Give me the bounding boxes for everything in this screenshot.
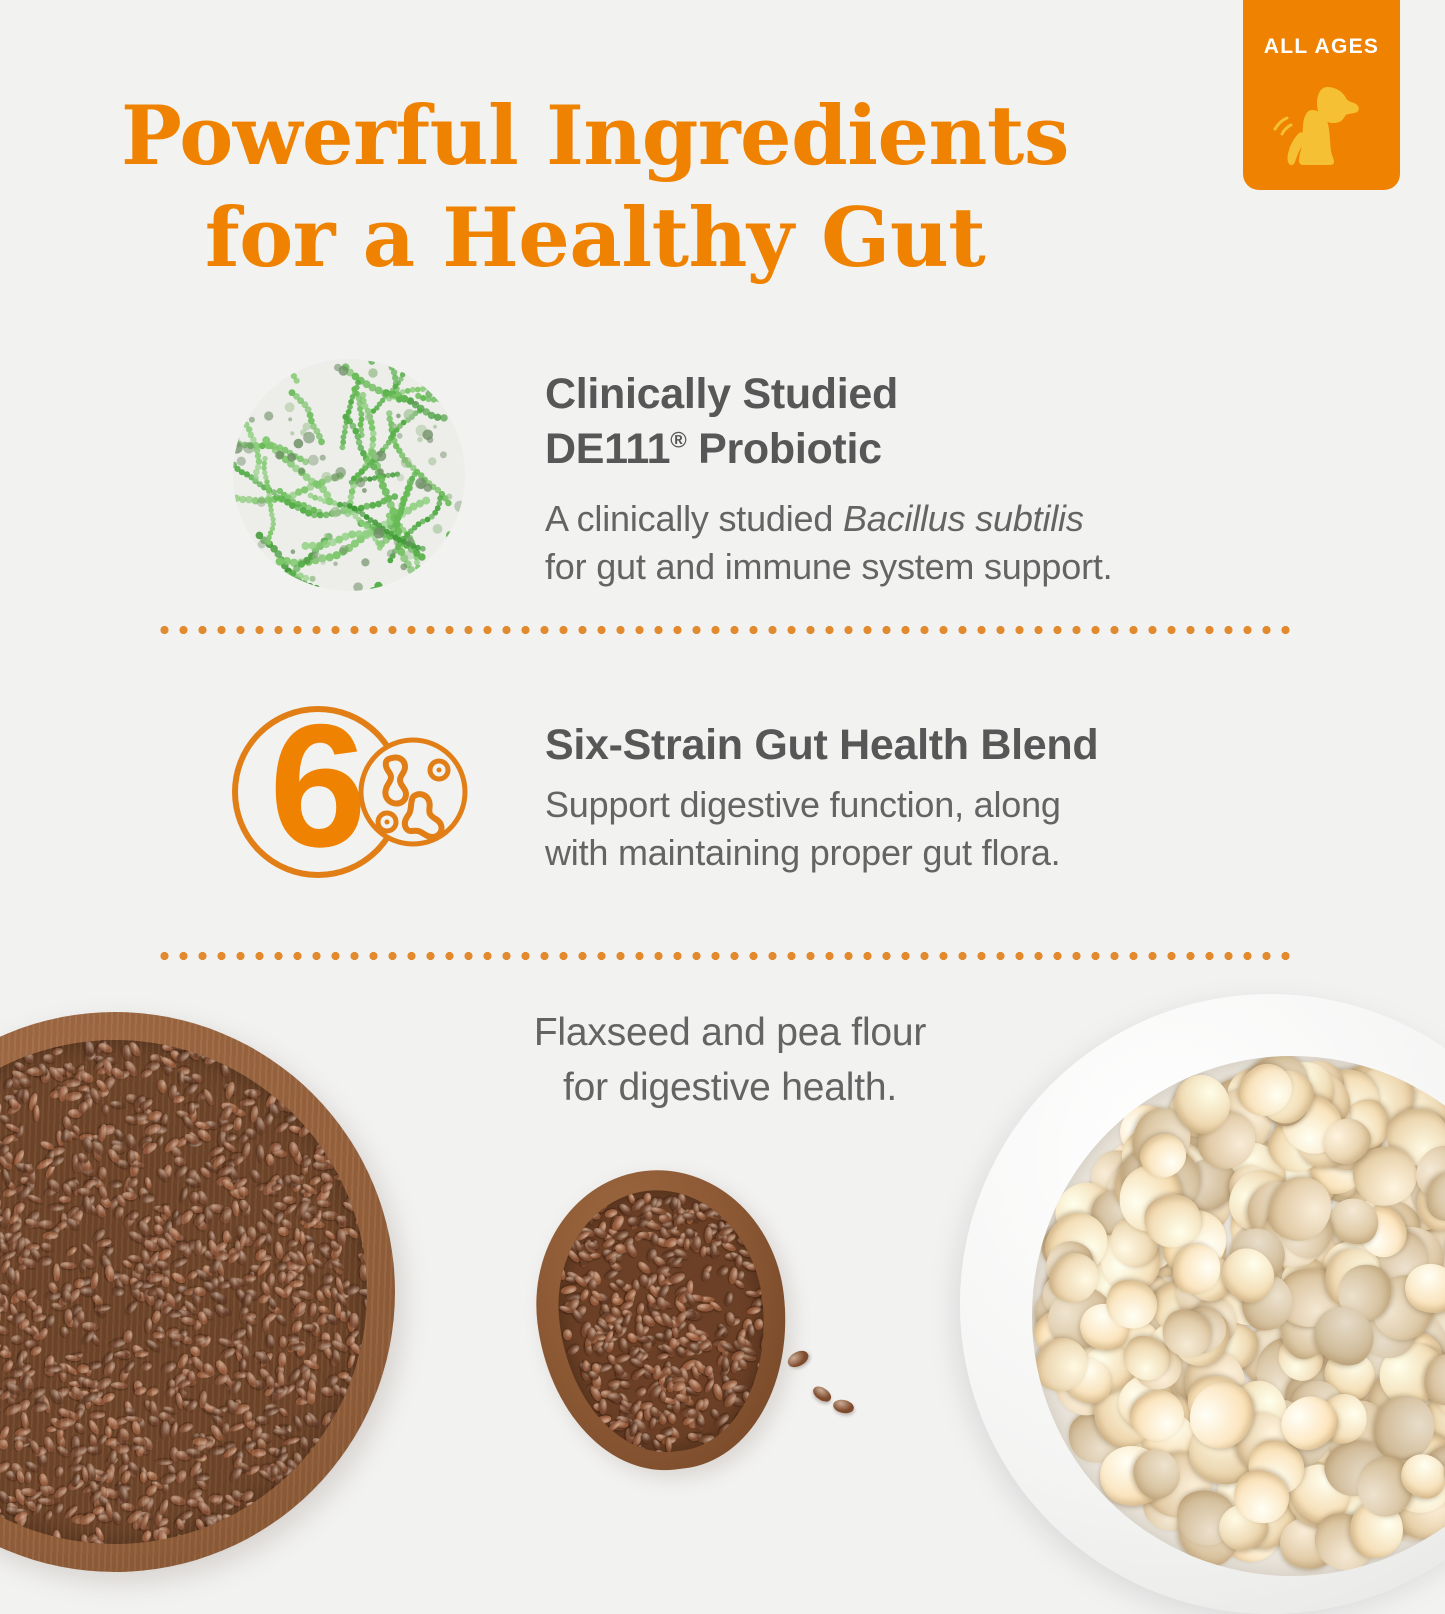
desc-line-2: with maintaining proper gut flora.: [545, 832, 1060, 873]
heading-probiotic: Probiotic: [686, 425, 881, 473]
white-bowl-of-chickpeas: [960, 994, 1445, 1614]
all-ages-label: ALL AGES: [1264, 35, 1379, 59]
bacteria-microscopy-circle-icon: [232, 358, 466, 592]
sitting-dog-icon: [1267, 65, 1377, 175]
feature-row-probiotic: Clinically Studied DE111® Probiotic A cl…: [232, 358, 1112, 592]
registered-mark: ®: [670, 428, 686, 453]
page-title: Powerful Ingredients for a Healthy Gut: [0, 86, 1190, 290]
feature-text-six-strain: Six-Strain Gut Health Blend Support dige…: [545, 700, 1098, 876]
desc-line-1: Support digestive function, along: [545, 784, 1061, 825]
feature-desc-six-strain: Support digestive function, along with m…: [545, 781, 1098, 876]
six-strain-blend-icon: 6: [225, 700, 483, 885]
species-name: Bacillus subtilis: [843, 498, 1084, 539]
feature-row-six-strain: 6 Six-Strain Gut Health Blend Support di…: [225, 700, 1098, 885]
title-line-1: Powerful Ingredients: [121, 89, 1069, 184]
all-ages-badge: ALL AGES: [1243, 0, 1400, 190]
feature-desc-probiotic: A clinically studied Bacillus subtilis f…: [545, 495, 1112, 590]
title-line-2: for a Healthy Gut: [0, 188, 1190, 290]
feature-text-probiotic: Clinically Studied DE111® Probiotic A cl…: [545, 358, 1112, 590]
ingredient-photos: [0, 1000, 1445, 1445]
wooden-bowl-of-flaxseed: [0, 1012, 395, 1572]
feature-heading-probiotic: Clinically Studied DE111® Probiotic: [545, 367, 1112, 477]
six-number: 6: [269, 700, 366, 884]
desc-line-2: for gut and immune system support.: [545, 546, 1112, 587]
heading-de111: DE111: [545, 425, 670, 473]
heading-line-1: Clinically Studied: [545, 370, 898, 418]
divider-2: [155, 952, 1291, 960]
wooden-spoon-of-flaxseed: [521, 1156, 804, 1484]
desc-pre: A clinically studied: [545, 498, 843, 539]
feature-heading-six-strain: Six-Strain Gut Health Blend: [545, 718, 1098, 773]
divider-1: [155, 626, 1291, 634]
